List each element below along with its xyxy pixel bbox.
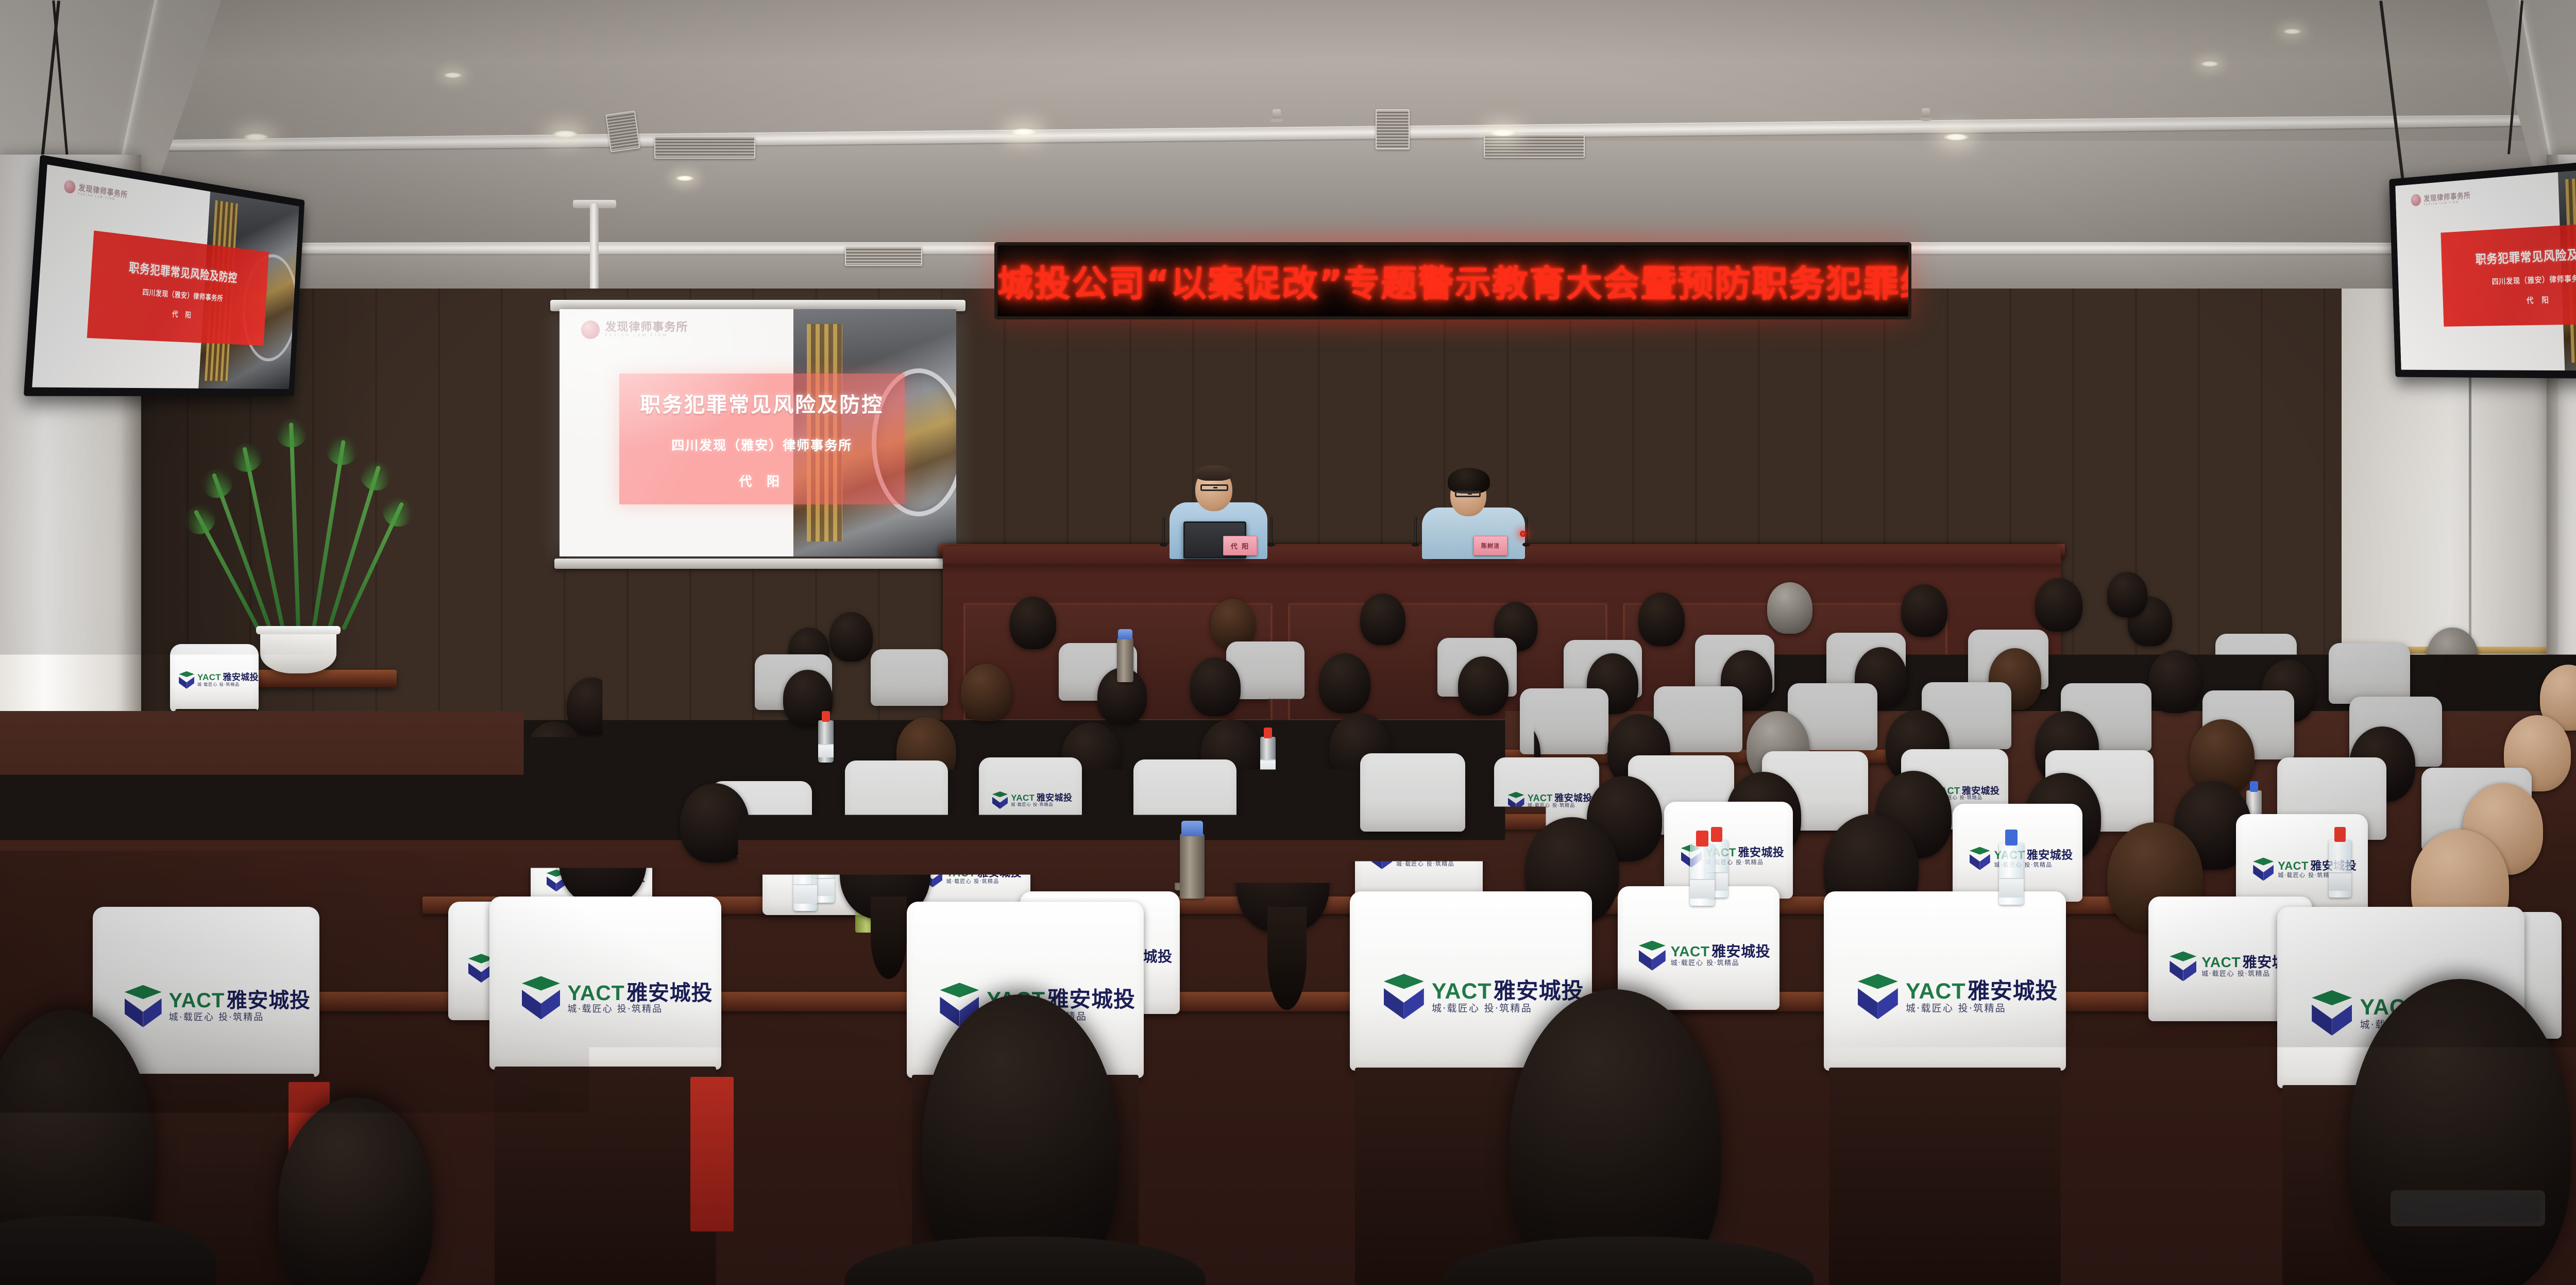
chair-cover-logo: YACT 雅安城投 城·载匠心 投·筑精品	[1371, 846, 1471, 869]
audience-head	[1360, 594, 1405, 645]
person-left-glasses	[1200, 484, 1228, 491]
chair-logo-tagline: 城·载匠心 投·筑精品	[567, 1004, 713, 1014]
yact-cube-icon	[2170, 951, 2196, 981]
chair-logo-abbr: YACT	[2278, 860, 2309, 872]
projection-screen-assembly: 发现律师事务所 FAXIAN LAW FIRM 职务犯罪常见风险及防控 四川发现…	[560, 309, 956, 556]
led-banner: 城投公司“以案促改”专题警示教育大会暨预防职务犯罪纪法讲座	[994, 242, 1911, 319]
ceiling-spotlight	[1489, 129, 1517, 137]
table-microphone-left-2	[1270, 516, 1273, 544]
water-bottle	[2329, 840, 2351, 898]
chair-logo-name: 雅安城投	[1738, 847, 1784, 859]
projection-screen: 发现律师事务所 FAXIAN LAW FIRM 职务犯罪常见风险及防控 四川发现…	[560, 309, 956, 556]
tv-right-law-firm-logo: 发现律师事务所 FAXIAN LAW FIRM	[2411, 189, 2471, 208]
water-bottle	[1260, 737, 1276, 778]
slide-presenter: 代 阳	[739, 471, 785, 490]
water-bottle	[818, 720, 834, 763]
chair-cover-logo: YACT 雅安城投 城·载匠心 投·筑精品	[522, 976, 707, 1020]
chair-cover-logo: YACT 雅安城投 城·载匠心 投·筑精品	[923, 865, 1019, 887]
audience-seat	[639, 704, 724, 767]
law-firm-seal-icon	[64, 179, 76, 194]
projection-screen-weight-bar	[554, 559, 961, 569]
chair-logo-name: 雅安城投	[1554, 793, 1592, 803]
chair-cover-logo: YACT 雅安城投 城·载匠心 投·筑精品	[1508, 792, 1590, 810]
person-right-glasses	[1455, 491, 1481, 497]
table-microphone-right-2	[1525, 516, 1528, 544]
tv-left-presenter: 代 阳	[172, 308, 194, 320]
ceiling-spotlight	[242, 133, 270, 141]
chair-logo-name: 雅安城投	[1962, 786, 1999, 796]
audience-head	[559, 804, 647, 905]
chair-logo-abbr: YACT	[169, 990, 225, 1012]
tv-left-bracket	[150, 390, 195, 396]
chair-logo-abbr: YACT	[1671, 944, 1710, 959]
chair-cover-logo: YACT 雅安城投 城·载匠心 投·筑精品	[1384, 974, 1578, 1019]
slide-law-firm-logo: 发现律师事务所 FAXIAN LAW FIRM	[581, 320, 688, 339]
chair-logo-abbr: YACT	[946, 868, 976, 880]
yact-cube-icon	[125, 985, 162, 1027]
chair-logo-name: 雅安城投	[1711, 944, 1770, 959]
slide-title-block: 职务犯罪常见风险及防控 四川发现（雅安）律师事务所 代 阳	[619, 374, 905, 504]
chair-logo-tagline: 城·载匠心 投·筑精品	[1011, 803, 1072, 807]
audience-head	[829, 612, 873, 662]
audience-seat: YACT 雅安城投 城·载匠心 投·筑精品	[979, 757, 1082, 835]
chair-cover-logo: YACT 雅安城投 城·载匠心 投·筑精品	[1639, 941, 1765, 971]
person-left-hair	[1195, 465, 1232, 481]
slide-organization: 四川发现（雅安）律师事务所	[671, 435, 852, 454]
audience-ponytail	[871, 897, 907, 979]
audience-head	[1901, 584, 1947, 637]
name-card-left: 代 阳	[1223, 536, 1257, 555]
chair-logo-tagline: 城·载匠心 投·筑精品	[197, 683, 259, 687]
audience-seat	[871, 649, 948, 706]
yact-cube-icon	[1858, 974, 1898, 1019]
tv-left-title: 职务犯罪常见风险及防控	[128, 258, 238, 286]
microphone-active-led	[1520, 531, 1526, 537]
chair-logo-name: 雅安城投	[634, 808, 670, 817]
audience-seat	[1386, 690, 1473, 755]
chair-logo-abbr: YACT	[197, 673, 221, 682]
audience-seat-front-cushion	[690, 1077, 734, 1231]
tv-right-presenter: 代 阳	[2527, 293, 2552, 306]
chair-cover-logo: YACT 雅安城投 城·载匠心 投·筑精品	[179, 671, 253, 689]
tv-left-organization: 四川发现（雅安）律师事务所	[142, 286, 224, 303]
tv-left-law-firm-logo: 发现律师事务所 FAXIAN LAW FIRM	[64, 178, 128, 202]
plant-pot	[260, 626, 336, 673]
audience-head	[2107, 572, 2147, 617]
name-card-right: 陈树洁	[1473, 536, 1507, 555]
led-banner-text: 城投公司“以案促改”专题警示教育大会暨预防职务犯罪纪法讲座	[997, 255, 1908, 307]
ac-vent	[1484, 134, 1585, 158]
chair-logo-name: 雅安城投	[223, 673, 259, 682]
water-bottle	[1690, 844, 1715, 906]
chair-logo-tagline: 城·载匠心 投·筑精品	[1906, 1003, 2058, 1014]
yact-cube-icon	[1970, 847, 1990, 870]
chair-logo-abbr: YACT	[1011, 793, 1035, 803]
yact-cube-icon	[1639, 941, 1666, 971]
chair-logo-name: 雅安城投	[2027, 850, 2073, 862]
law-firm-seal-icon	[2411, 194, 2421, 206]
table-microphone-left	[1162, 516, 1165, 544]
ceiling-spotlight	[1010, 128, 1038, 136]
ceiling-spotlight	[675, 175, 694, 181]
law-firm-seal-icon	[581, 320, 600, 339]
slide-logo-name-en: FAXIAN LAW FIRM	[605, 333, 688, 337]
chair-logo-abbr: YACT	[567, 982, 624, 1004]
chair-logo-name: 雅安城投	[1494, 979, 1584, 1003]
seat-side-left: YACT 雅安城投 城·载匠心 投·筑精品	[170, 644, 259, 712]
person-right-hair	[1448, 468, 1490, 494]
chair-logo-abbr: YACT	[1906, 979, 1966, 1003]
ac-vent	[605, 110, 640, 152]
ceiling-spotlight	[551, 130, 579, 138]
foreground-eyeglasses-right	[2391, 1190, 2545, 1226]
chair-logo-abbr: YACT	[1432, 979, 1492, 1003]
thermos-flask	[1117, 638, 1133, 682]
audience-head	[1010, 597, 1056, 649]
chair-cover-logo: YACT 雅安城投 城·载匠心 投·筑精品	[125, 985, 306, 1027]
chair-logo-abbr: YACT	[1396, 848, 1427, 860]
baseball-cap	[1087, 720, 1164, 778]
yact-cube-icon	[2253, 857, 2274, 881]
chair-logo-name: 雅安城投	[227, 990, 311, 1012]
yact-cube-icon	[2312, 990, 2352, 1036]
audience-head	[479, 757, 547, 836]
yact-cube-icon	[1371, 846, 1392, 869]
sprinkler-head	[1273, 109, 1281, 122]
ceiling-spotlight	[443, 72, 463, 78]
chair-logo-name: 雅安城投	[1429, 849, 1475, 861]
thermos-flask	[1180, 834, 1205, 899]
ceiling-spotlight	[1942, 133, 1970, 141]
chair-cover-logo: YACT 雅安城投 城·载匠心 投·筑精品	[1858, 974, 2052, 1019]
audience-seat-front-body	[1829, 1068, 2061, 1285]
slide-logo-name-cn: 发现律师事务所	[605, 322, 688, 333]
chair-logo-tagline: 城·载匠心 投·筑精品	[1528, 804, 1592, 809]
chair-cover-logo: YACT 雅安城投 城·载匠心 投·筑精品	[992, 791, 1073, 809]
tv-right-screen: 发现律师事务所 FAXIAN LAW FIRM 职务犯罪常见风险及防控 四川发现…	[2395, 162, 2576, 371]
chair-logo-tagline: 城·载匠心 投·筑精品	[946, 880, 1022, 885]
yact-cube-icon	[1384, 974, 1424, 1019]
chair-logo-abbr: YACT	[1528, 793, 1553, 803]
audience-seat	[2329, 643, 2410, 704]
water-bottle	[793, 850, 817, 911]
audience-head	[2035, 578, 2082, 632]
audience-head	[2427, 628, 2478, 685]
audience-ponytail	[1267, 907, 1307, 1010]
audience-seat: YACT 雅安城投 城·载匠心 投·筑精品	[1355, 804, 1483, 900]
ac-vent	[845, 246, 922, 266]
tv-right-title: 职务犯罪常见风险及防控	[2475, 244, 2576, 267]
ceiling-spotlight	[2200, 61, 2219, 67]
tv-right-title-block: 职务犯罪常见风险及防控 四川发现（雅安）律师事务所 代 阳	[2441, 221, 2576, 327]
ceiling-plane-upper	[0, 141, 2576, 244]
conference-hall-photo: 城投公司“以案促改”专题警示教育大会暨预防职务犯罪纪法讲座 发现律师事务所 FA…	[0, 0, 2576, 1285]
audience-seat-front-body	[495, 1067, 716, 1285]
tv-left-screen: 发现律师事务所 FAXIAN LAW FIRM 职务犯罪常见风险及防控 四川发现…	[32, 164, 299, 389]
yact-cube-icon	[522, 976, 560, 1020]
chair-logo-tagline: 城·载匠心 投·筑精品	[1396, 861, 1475, 867]
chair-logo-abbr: YACT	[2201, 955, 2241, 970]
table-microphone-right	[1414, 516, 1417, 544]
chair-logo-name: 雅安城投	[1968, 979, 2058, 1003]
tv-right-organization: 四川发现（雅安）律师事务所	[2492, 272, 2576, 286]
ac-vent	[654, 136, 755, 159]
chair-logo-name: 雅安城投	[626, 982, 713, 1004]
audience-head	[1638, 593, 1685, 646]
audience-head	[567, 678, 616, 734]
yact-cube-icon	[179, 671, 194, 689]
ac-vent	[1376, 109, 1410, 149]
chair-logo-name: 雅安城投	[1037, 793, 1072, 803]
wall-tv-right: 发现律师事务所 FAXIAN LAW FIRM 职务犯罪常见风险及防控 四川发现…	[2389, 153, 2576, 380]
audience-head	[680, 783, 749, 863]
ceiling-spotlight	[2282, 28, 2302, 35]
audience-seat: YACT 雅安城投 城·载匠心 投·筑精品	[1664, 802, 1793, 899]
slide-title: 职务犯罪常见风险及防控	[640, 388, 884, 418]
audience-seat-front: YACT 雅安城投 城·载匠心 投·筑精品	[1824, 891, 2066, 1071]
chair-logo-name: 雅安城投	[977, 867, 1022, 879]
chair-logo-tagline: 城·载匠心 投·筑精品	[169, 1012, 311, 1022]
audience-head	[2148, 650, 2202, 713]
audience-seat-front: YACT 雅安城投 城·载匠心 投·筑精品	[489, 897, 721, 1070]
chair-logo-tagline: 城·载匠心 投·筑精品	[1671, 960, 1771, 967]
sprinkler-head	[1922, 108, 1930, 121]
water-bottle	[1999, 843, 2024, 905]
yact-cube-icon	[992, 791, 1008, 809]
audience-head	[1767, 582, 1812, 634]
